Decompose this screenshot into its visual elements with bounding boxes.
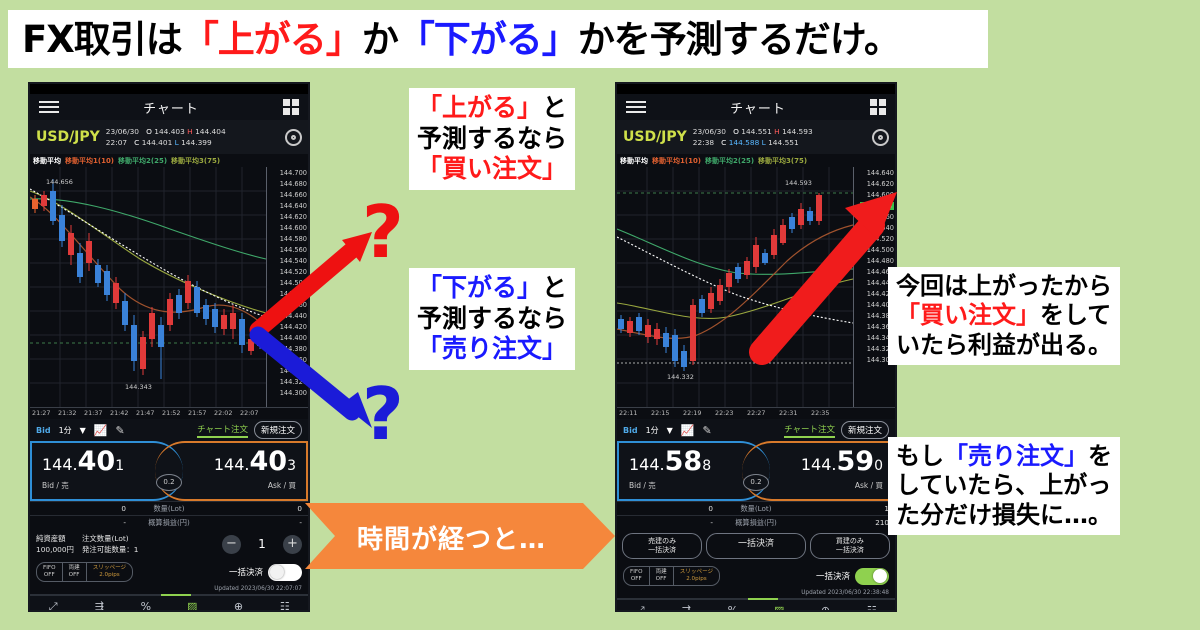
- title-part-5: かを予測するだけ。: [578, 21, 900, 58]
- equity-label-left: 純資産額: [36, 533, 74, 544]
- ma-legend-1-left: 移動平均1(10): [65, 156, 114, 166]
- market-globe-icon: ⊕: [215, 600, 261, 612]
- bid-big-right: 58: [665, 446, 703, 477]
- ohlc-h-label-right: H: [774, 127, 780, 136]
- ohlc-o-label-right: O: [733, 127, 739, 136]
- bid-price-left: 144.401: [42, 449, 173, 479]
- order-qty-block-left: 注文数量(Lot) 発注可能数量：1: [82, 533, 138, 555]
- flag-pill-right[interactable]: FIFOOFF 両建OFF スリッページ2.0pips: [623, 566, 720, 586]
- ma-legend-0-right: 移動平均: [620, 156, 648, 166]
- spread-badge-left: 0.2: [156, 474, 182, 491]
- callout-loss-line-2: していたら、上がっ: [896, 471, 1112, 500]
- ohlc-low-right: 144.551: [768, 138, 799, 147]
- callout-down-line-3: 「売り注文」: [417, 334, 567, 365]
- ohlc-time-right: 22:38: [693, 138, 714, 147]
- phone-screenshot-after: チャート USD/JPY 23/06/30 O 144.551 H 144.59…: [615, 82, 897, 612]
- question-mark-red: ?: [362, 196, 404, 268]
- pos-qty-buy-right: 1: [793, 504, 895, 513]
- qty-plus-button-left[interactable]: +: [283, 535, 302, 554]
- nav-item-market-left[interactable]: ⊕ マーケット: [215, 596, 261, 612]
- bulk-settle-toggle-left[interactable]: [268, 564, 302, 581]
- account-icon: ☷: [849, 604, 895, 612]
- settle-sell-only-button[interactable]: 売建のみ 一括決済: [622, 533, 702, 559]
- app-navbar-right: チャート: [617, 94, 895, 120]
- rate-icon: %: [710, 604, 756, 612]
- navbar-title-left: チャート: [143, 98, 199, 117]
- nav-item-rate-right[interactable]: % レート: [710, 600, 756, 612]
- bid-big-left: 40: [78, 446, 116, 477]
- ohlc-l-label-left: L: [175, 138, 179, 147]
- qty-minus-button-left[interactable]: −: [222, 535, 241, 554]
- chevron-down-icon[interactable]: ▼: [667, 426, 673, 435]
- grid-icon[interactable]: [283, 99, 299, 115]
- settle-buy-only-button[interactable]: 買建のみ 一括決済: [810, 533, 890, 559]
- ma-legend-2-right: 移動平均2(25): [705, 156, 754, 166]
- line-chart-icon[interactable]: 📈: [681, 424, 695, 437]
- app-navbar-left: チャート: [30, 94, 308, 120]
- pencil-icon[interactable]: ✎: [703, 424, 712, 437]
- quote-panel-left: 144.401 Bid / 売 0.2 144.403 Ask / 買: [30, 441, 308, 501]
- flag-pill-left[interactable]: FIFOOFF 両建OFF スリッページ2.0pips: [36, 562, 133, 582]
- hamburger-icon[interactable]: [626, 98, 646, 116]
- ask-label-left: Ask / 買: [165, 480, 296, 491]
- nav-item-account-right[interactable]: ☷ 口座照会: [849, 600, 895, 612]
- ask-price-right: 144.590: [752, 449, 883, 479]
- callout-profit-line-2: 「買い注文」をして: [896, 301, 1112, 330]
- bid-small-left: 1: [115, 458, 124, 474]
- position-row-qty-left: 0 数量(Lot) 0: [30, 501, 308, 515]
- pos-pl-label-left: 概算損益(円): [132, 518, 206, 528]
- spread-badge-right: 0.2: [743, 474, 769, 491]
- page-title: FX取引は 「上がる」 か 「下がる」 かを予測するだけ。: [8, 10, 988, 68]
- price-axis-left: 144.700144.680 144.660144.640 144.620144…: [266, 167, 308, 407]
- flags-row-left: FIFOOFF 両建OFF スリッページ2.0pips 一括決済: [30, 559, 308, 585]
- time-passes-ribbon: 時間が経つと…: [305, 503, 615, 573]
- speed-order-icon: ⇶: [663, 604, 709, 612]
- bid-label-left: Bid / 売: [42, 480, 173, 491]
- bulk-settle-label-right: 一括決済: [816, 570, 850, 582]
- bid-int-left: 144.: [42, 455, 78, 474]
- quote-panel-right: 144.588 Bid / 売 ▼ 0.2 144.590 ▼ Ask / 買: [617, 441, 895, 501]
- bulk-settle-wrap-left[interactable]: 一括決済: [229, 564, 302, 581]
- callout-predict-up: 「上がる」と 予測するなら 「買い注文」: [409, 88, 575, 190]
- position-row-pl-left: - 概算損益(円) -: [30, 515, 308, 529]
- chart-low-label-left: 144.343: [125, 383, 152, 391]
- flags-row-right: FIFOOFF 両建OFF スリッページ2.0pips 一括決済: [617, 563, 895, 589]
- pencil-icon[interactable]: ✎: [116, 424, 125, 437]
- flag-slippage-left[interactable]: スリッページ2.0pips: [87, 563, 132, 581]
- position-row-pl-right: - 概算損益(円) 210: [617, 515, 895, 529]
- nav-item-chart-left[interactable]: ▨ チャート: [169, 596, 215, 612]
- chevron-down-icon[interactable]: ▼: [80, 426, 86, 435]
- time-axis-right: 22:1122:15 22:1922:23 22:2722:31 22:35: [617, 407, 895, 419]
- settlement-buttons-right: 売建のみ 一括決済 一括決済 買建のみ 一括決済: [617, 529, 895, 563]
- qty-value-left: 1: [249, 537, 275, 551]
- pos-pl-buy-left: -: [206, 518, 308, 527]
- ohlc-open-left: 144.403: [154, 127, 185, 136]
- ma-legend-right: 移動平均 移動平均1(10) 移動平均2(25) 移動平均3(75): [617, 154, 895, 167]
- account-icon: ☷: [262, 600, 308, 612]
- ohlc-h-label-left: H: [187, 127, 193, 136]
- bid-small-right: 8: [702, 458, 711, 474]
- title-part-2: 「上がる」: [182, 21, 362, 58]
- ma-legend-1-right: 移動平均1(10): [652, 156, 701, 166]
- updated-timestamp-left: Updated 2023/06/30 22:07:07: [30, 585, 308, 594]
- toolbar-timeframe-right[interactable]: 1分: [646, 425, 659, 436]
- new-order-button-left[interactable]: 新規注文: [254, 421, 302, 439]
- bid-int-right: 144.: [629, 455, 665, 474]
- symbol-name-right: USD/JPY: [623, 129, 687, 145]
- ohlc-close-left: 144.401: [142, 138, 173, 147]
- ask-price-left: 144.403: [165, 449, 296, 479]
- pos-pl-sell-left: -: [30, 518, 132, 527]
- ask-int-right: 144.: [801, 455, 837, 474]
- current-price-tag-right: 144.588: [860, 202, 894, 210]
- toolbar-timeframe-left[interactable]: 1分: [59, 425, 72, 436]
- toolbar-bid-right[interactable]: Bid: [623, 426, 638, 435]
- ma-legend-left: 移動平均 移動平均1(10) 移動平均2(25) 移動平均3(75): [30, 154, 308, 167]
- equity-value-left: 100,000円: [36, 544, 74, 555]
- ohlc-close-right: 144.588: [729, 138, 760, 147]
- callout-up-line-2: 予測するなら: [417, 124, 567, 155]
- navbar-title-right: チャート: [730, 98, 786, 117]
- nav-item-trade-right[interactable]: ⤢ トレード: [617, 600, 663, 612]
- bulk-settle-wrap-right[interactable]: 一括決済: [816, 568, 889, 585]
- callout-profit-line-1: 今回は上がったから: [896, 272, 1112, 301]
- ask-int-left: 144.: [214, 455, 250, 474]
- trade-icon: ⤢: [30, 600, 76, 612]
- nav-item-rate-left[interactable]: % レート: [123, 596, 169, 612]
- symbol-bar-left: USD/JPY 23/06/30 O 144.403 H 144.404 22:…: [30, 120, 308, 154]
- chart-order-button-right[interactable]: チャート注文: [784, 423, 835, 438]
- updated-timestamp-right: Updated 2023/06/30 22:38:48: [617, 589, 895, 598]
- chart-order-button-left[interactable]: チャート注文: [197, 423, 248, 438]
- flag-hedge-right[interactable]: 両建OFF: [650, 567, 674, 585]
- ask-box-left[interactable]: 144.403 Ask / 買: [155, 441, 308, 501]
- callout-loss-line-3: た分だけ損失に…。: [896, 501, 1112, 530]
- time-axis-left: 21:2721:32 21:3721:42 21:4721:52 21:5722…: [30, 407, 308, 419]
- callout-profit: 今回は上がったから 「買い注文」をして いたら利益が出る。: [888, 267, 1120, 365]
- symbol-name-left: USD/JPY: [36, 129, 100, 145]
- price-chart-right[interactable]: 144.593 144.332 144.640144.620 144.600 1…: [617, 167, 895, 407]
- ohlc-block-right: 23/06/30 O 144.551 H 144.593 22:38 C 144…: [693, 126, 866, 148]
- position-row-qty-right: 0 数量(Lot) 1: [617, 501, 895, 515]
- callout-loss-line-1: もし「売り注文」を: [896, 442, 1112, 471]
- chart-high-label-right: 144.593: [785, 179, 812, 187]
- ma-legend-2-left: 移動平均2(25): [118, 156, 167, 166]
- account-row-left: 純資産額 100,000円 注文数量(Lot) 発注可能数量：1 − 1 +: [30, 529, 308, 559]
- pos-qty-label-right: 数量(Lot): [719, 504, 793, 514]
- ohlc-date-right: 23/06/30: [693, 127, 726, 136]
- title-part-4: 「下がる」: [398, 21, 578, 58]
- ohlc-time-left: 22:07: [106, 138, 127, 147]
- nav-item-account-left[interactable]: ☷ 口座照会: [262, 596, 308, 612]
- pos-qty-sell-right: 0: [617, 504, 719, 513]
- ma-legend-3-right: 移動平均3(75): [758, 156, 807, 166]
- speed-order-icon: ⇶: [76, 600, 122, 612]
- callout-up-line-3: 「買い注文」: [417, 154, 567, 185]
- pos-qty-buy-left: 0: [206, 504, 308, 513]
- ohlc-block-left: 23/06/30 O 144.403 H 144.404 22:07 C 144…: [106, 126, 279, 148]
- ask-small-right: 0: [874, 458, 883, 474]
- title-part-3: か: [362, 21, 398, 58]
- callout-down-line-1: 「下がる」と: [417, 273, 567, 304]
- pos-qty-label-left: 数量(Lot): [132, 504, 206, 514]
- grid-icon[interactable]: [870, 99, 886, 115]
- order-qty-label-left: 注文数量(Lot): [82, 533, 138, 544]
- equity-block-left: 純資産額 100,000円: [36, 533, 74, 555]
- available-qty-label-left: 発注可能数量：1: [82, 544, 138, 555]
- price-chart-left[interactable]: 144.656 144.343 144.700144.680 144.66014…: [30, 167, 308, 407]
- quantity-stepper-left[interactable]: − 1 +: [222, 535, 302, 554]
- chart-toolbar-right: Bid 1分 ▼ 📈 ✎ チャート注文 新規注文: [617, 419, 895, 441]
- bottom-nav-right: ⤢ トレード ⇶ スピード注文 % レート ▨ チャート ⊕ マーケット ☷ 口…: [617, 598, 895, 612]
- chart-icon: ▨: [756, 604, 802, 612]
- ribbon-label: 時間が経つと…: [357, 519, 546, 556]
- callout-up-line-1: 「上がる」と: [417, 93, 567, 124]
- chart-high-label-left: 144.656: [46, 178, 73, 186]
- bulk-settle-toggle-right[interactable]: [855, 568, 889, 585]
- trade-icon: ⤢: [617, 604, 663, 612]
- callout-loss: もし「売り注文」を していたら、上がっ た分だけ損失に…。: [888, 437, 1120, 535]
- gear-icon[interactable]: [872, 129, 889, 146]
- callout-down-line-2: 予測するなら: [417, 304, 567, 335]
- flag-hedge-left[interactable]: 両建OFF: [63, 563, 87, 581]
- ask-label-right: ▼ Ask / 買: [752, 480, 883, 491]
- ohlc-low-left: 144.399: [181, 138, 212, 147]
- toolbar-bid-left[interactable]: Bid: [36, 426, 51, 435]
- pos-pl-label-right: 概算損益(円): [719, 518, 793, 528]
- chart-low-label-right: 144.332: [667, 373, 694, 381]
- bid-label-right: Bid / 売 ▼: [629, 480, 760, 491]
- hamburger-icon[interactable]: [39, 98, 59, 116]
- ma-legend-0-left: 移動平均: [33, 156, 61, 166]
- new-order-button-right[interactable]: 新規注文: [841, 421, 889, 439]
- ohlc-high-right: 144.593: [782, 127, 813, 136]
- nav-item-market-right[interactable]: ⊕ マーケット: [802, 600, 848, 612]
- ohlc-c-label-left: C: [134, 138, 139, 147]
- ask-big-left: 40: [250, 446, 288, 477]
- nav-item-speed-order-right[interactable]: ⇶ スピード注文: [663, 600, 709, 612]
- pos-pl-sell-right: -: [617, 518, 719, 527]
- flag-fifo-right[interactable]: FIFOOFF: [624, 567, 650, 585]
- title-part-1: FX取引は: [22, 21, 182, 58]
- nav-item-chart-right[interactable]: ▨ チャート: [756, 600, 802, 612]
- nav-item-trade-left[interactable]: ⤢ トレード: [30, 596, 76, 612]
- rate-icon: %: [123, 600, 169, 612]
- status-bar-left: [30, 84, 308, 94]
- bulk-settle-label-left: 一括決済: [229, 566, 263, 578]
- ma-legend-3-left: 移動平均3(75): [171, 156, 220, 166]
- ohlc-open-right: 144.551: [741, 127, 772, 136]
- callout-profit-line-3: いたら利益が出る。: [896, 331, 1112, 360]
- symbol-bar-right: USD/JPY 23/06/30 O 144.551 H 144.593 22:…: [617, 120, 895, 154]
- status-bar-right: [617, 84, 895, 94]
- ohlc-c-label-right: C: [721, 138, 726, 147]
- settle-all-button[interactable]: 一括決済: [706, 533, 806, 559]
- pos-qty-sell-left: 0: [30, 504, 132, 513]
- callout-predict-down: 「下がる」と 予測するなら 「売り注文」: [409, 268, 575, 370]
- ask-box-right[interactable]: 144.590 ▼ Ask / 買: [742, 441, 895, 501]
- ohlc-date-left: 23/06/30: [106, 127, 139, 136]
- flag-fifo-left[interactable]: FIFOOFF: [37, 563, 63, 581]
- ask-small-left: 3: [287, 458, 296, 474]
- pos-pl-buy-right: 210: [793, 518, 895, 527]
- bid-price-right: 144.588: [629, 449, 760, 479]
- ask-big-right: 59: [837, 446, 875, 477]
- question-mark-blue: ?: [362, 378, 404, 450]
- ohlc-o-label-left: O: [146, 127, 152, 136]
- phone-screenshot-before: チャート USD/JPY 23/06/30 O 144.403 H 144.40…: [28, 82, 310, 612]
- infographic-root: FX取引は 「上がる」 か 「下がる」 かを予測するだけ。 チャート USD/J…: [0, 0, 1200, 630]
- nav-item-speed-order-left[interactable]: ⇶ スピード注文: [76, 596, 122, 612]
- ohlc-high-left: 144.404: [195, 127, 226, 136]
- bottom-nav-left: ⤢ トレード ⇶ スピード注文 % レート ▨ チャート ⊕ マーケット ☷ 口…: [30, 594, 308, 612]
- gear-icon[interactable]: [285, 129, 302, 146]
- line-chart-icon[interactable]: 📈: [94, 424, 108, 437]
- flag-slippage-right[interactable]: スリッページ2.0pips: [674, 567, 719, 585]
- chart-icon: ▨: [169, 600, 215, 612]
- ohlc-l-label-right: L: [762, 138, 766, 147]
- market-globe-icon: ⊕: [802, 604, 848, 612]
- chart-toolbar-left: Bid 1分 ▼ 📈 ✎ チャート注文 新規注文: [30, 419, 308, 441]
